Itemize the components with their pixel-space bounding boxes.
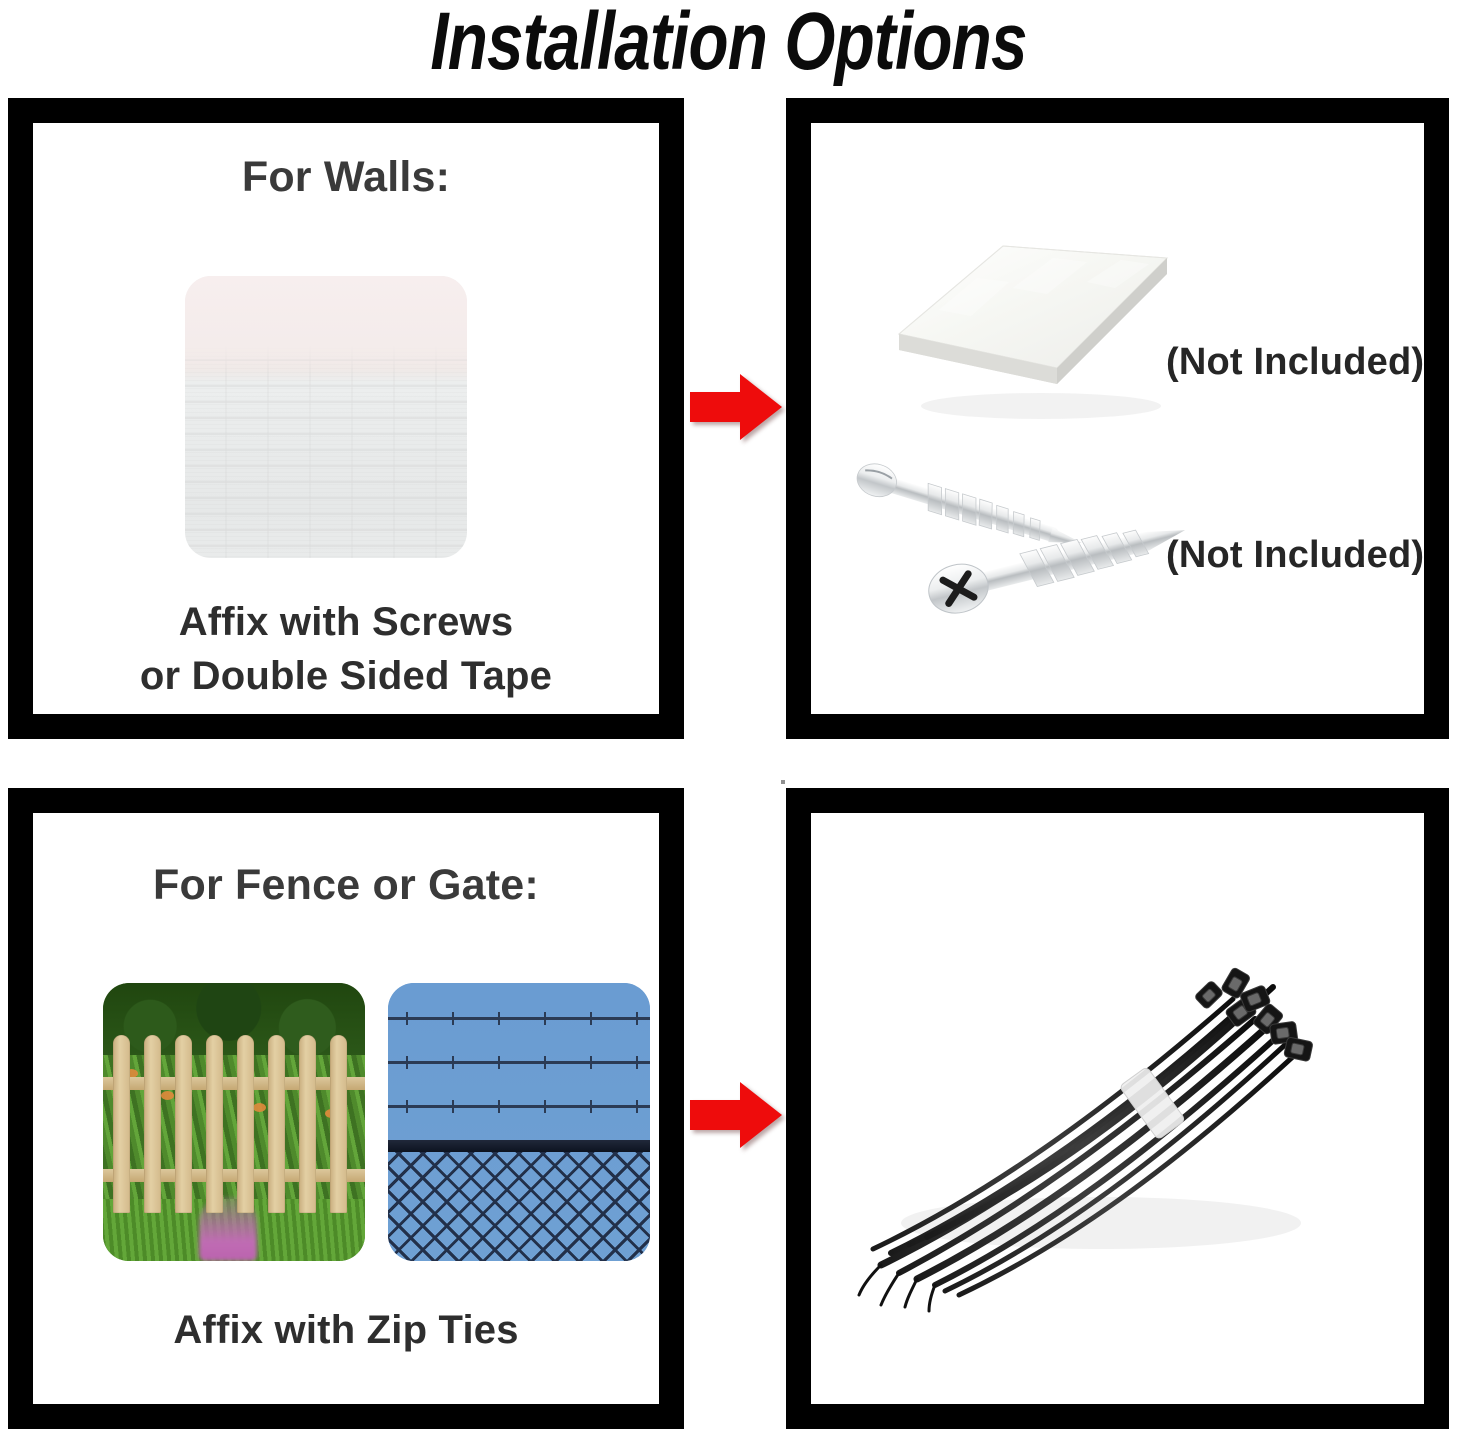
walls-caption-line1: Affix with Screws <box>33 595 659 649</box>
page-title: Installation Options <box>146 0 1312 88</box>
walls-caption: Affix with Screws or Double Sided Tape <box>33 595 659 703</box>
hedge-layer <box>103 983 365 1055</box>
tape-not-included-label: (Not Included) <box>1166 341 1424 384</box>
wooden-picket-fence-image <box>103 983 365 1261</box>
foliage-layer <box>103 1041 365 1211</box>
wall-top-highlight <box>185 276 467 374</box>
walls-caption-line2: or Double Sided Tape <box>33 649 659 703</box>
panel-zip-ties: (Not Included) <box>786 788 1449 1429</box>
chain-link-barbed-wire-fence-image <box>388 983 650 1261</box>
panel-for-fence-or-gate: For Fence or Gate: <box>8 788 684 1429</box>
barbed-wire-3 <box>388 1105 650 1108</box>
red-right-arrow-icon <box>688 1080 784 1150</box>
fence-top-rail <box>388 1140 650 1152</box>
barbed-wire-1 <box>388 1017 650 1020</box>
fence-heading: For Fence or Gate: <box>33 861 659 910</box>
black-zip-tie-bundle-image <box>851 893 1351 1313</box>
walls-heading: For Walls: <box>33 153 659 202</box>
panel-wall-hardware: (Not Included) <box>786 98 1449 739</box>
fence-caption: Affix with Zip Ties <box>33 1303 659 1357</box>
image-artifact-dot <box>781 780 785 784</box>
chain-link-mesh <box>388 1152 650 1261</box>
screws-not-included-label: (Not Included) <box>1166 534 1424 577</box>
white-brick-wall-image <box>185 276 467 558</box>
red-right-arrow-icon <box>688 372 784 442</box>
double-sided-tape-stack-image <box>881 238 1181 423</box>
panel-for-walls: For Walls: Affix with Screws or Double S… <box>8 98 684 739</box>
barbed-wire-2 <box>388 1061 650 1064</box>
